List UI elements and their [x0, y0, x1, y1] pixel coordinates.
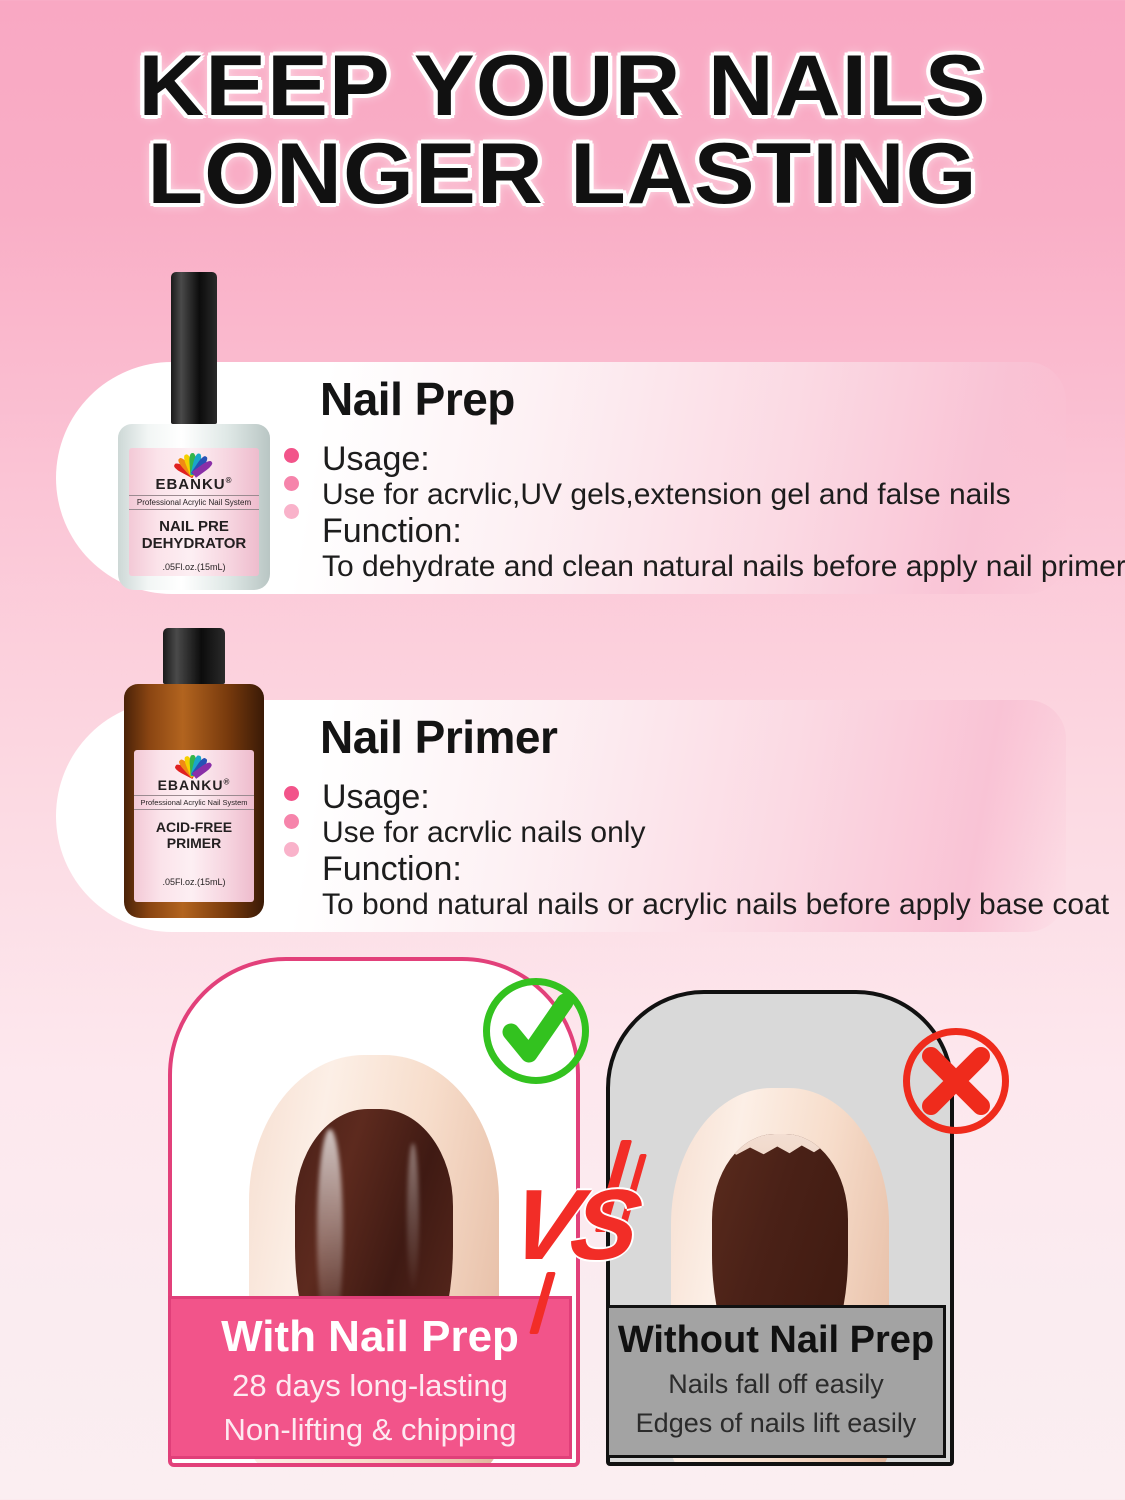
rainbow-fan-logo [166, 453, 222, 475]
bullet-dots-nail-prep [284, 448, 300, 532]
product-title-nail-primer: Nail Primer [320, 710, 557, 764]
bottle-product-name-line-2: PRIMER [134, 836, 254, 852]
bullet-dots-nail-primer [284, 786, 300, 870]
bottle-tagline: Professional Acrylic Nail System [134, 795, 254, 810]
bottle-product-name-line-1: ACID-FREE [134, 820, 254, 836]
bottle-cap [171, 272, 217, 424]
usage-label-nail-primer: Usage: [322, 778, 430, 817]
bottle-label: EBANKU® Professional Acrylic Nail System… [134, 750, 254, 902]
bottle-volume: .05Fl.oz.(15mL) [134, 877, 254, 887]
usage-label-nail-prep: Usage: [322, 440, 430, 479]
page-title-line-2: LONGER LASTING [0, 132, 1125, 216]
function-label-nail-prep: Function: [322, 512, 462, 551]
bottle-brand: EBANKU® [129, 476, 260, 493]
vs-graphic: VS [512, 1168, 672, 1298]
page-title-line-1: KEEP YOUR NAILS [138, 38, 986, 134]
product-title-nail-prep: Nail Prep [320, 372, 515, 426]
bottle-label: EBANKU® Professional Acrylic Nail System… [129, 448, 260, 576]
caption-title-good: With Nail Prep [171, 1313, 569, 1361]
function-label-nail-primer: Function: [322, 850, 462, 889]
x-icon [903, 1028, 1009, 1134]
nail-gloss-highlight-2 [407, 1143, 419, 1293]
vs-label: VS [502, 1168, 644, 1283]
bottle-product-name-line-2: DEHYDRATOR [129, 536, 260, 553]
caption-sub-good-1: 28 days long-lasting [171, 1367, 569, 1405]
caption-title-bad: Without Nail Prep [609, 1320, 943, 1362]
bottle-volume: .05Fl.oz.(15mL) [129, 562, 260, 572]
bottle-cap [163, 628, 225, 684]
usage-text-nail-prep: Use for acrvlic,UV gels,extension gel an… [322, 478, 1011, 512]
check-icon [483, 978, 589, 1084]
page-title: KEEP YOUR NAILS LONGER LASTING [0, 44, 1125, 217]
caption-sub-bad-1: Nails fall off easily [609, 1368, 943, 1401]
caption-sub-good-2: Non-lifting & chipping [171, 1411, 569, 1449]
function-text-nail-primer: To bond natural nails or acrylic nails b… [322, 888, 1109, 922]
bottle-tagline: Professional Acrylic Nail System [129, 495, 260, 510]
caption-sub-bad-2: Edges of nails lift easily [609, 1407, 943, 1440]
caption-without-nail-prep: Without Nail Prep Nails fall off easily … [606, 1305, 946, 1458]
usage-text-nail-primer: Use for acrvlic nails only [322, 816, 645, 850]
function-text-nail-prep: To dehydrate and clean natural nails bef… [322, 550, 1125, 584]
bottle-nail-primer: EBANKU® Professional Acrylic Nail System… [124, 628, 264, 918]
caption-with-nail-prep: With Nail Prep 28 days long-lasting Non-… [168, 1296, 572, 1459]
bottle-product-name-line-1: NAIL PRE [129, 519, 260, 536]
bottle-nail-prep: EBANKU® Professional Acrylic Nail System… [118, 272, 270, 590]
bottle-brand: EBANKU® [134, 777, 254, 793]
rainbow-fan-logo [168, 755, 220, 776]
